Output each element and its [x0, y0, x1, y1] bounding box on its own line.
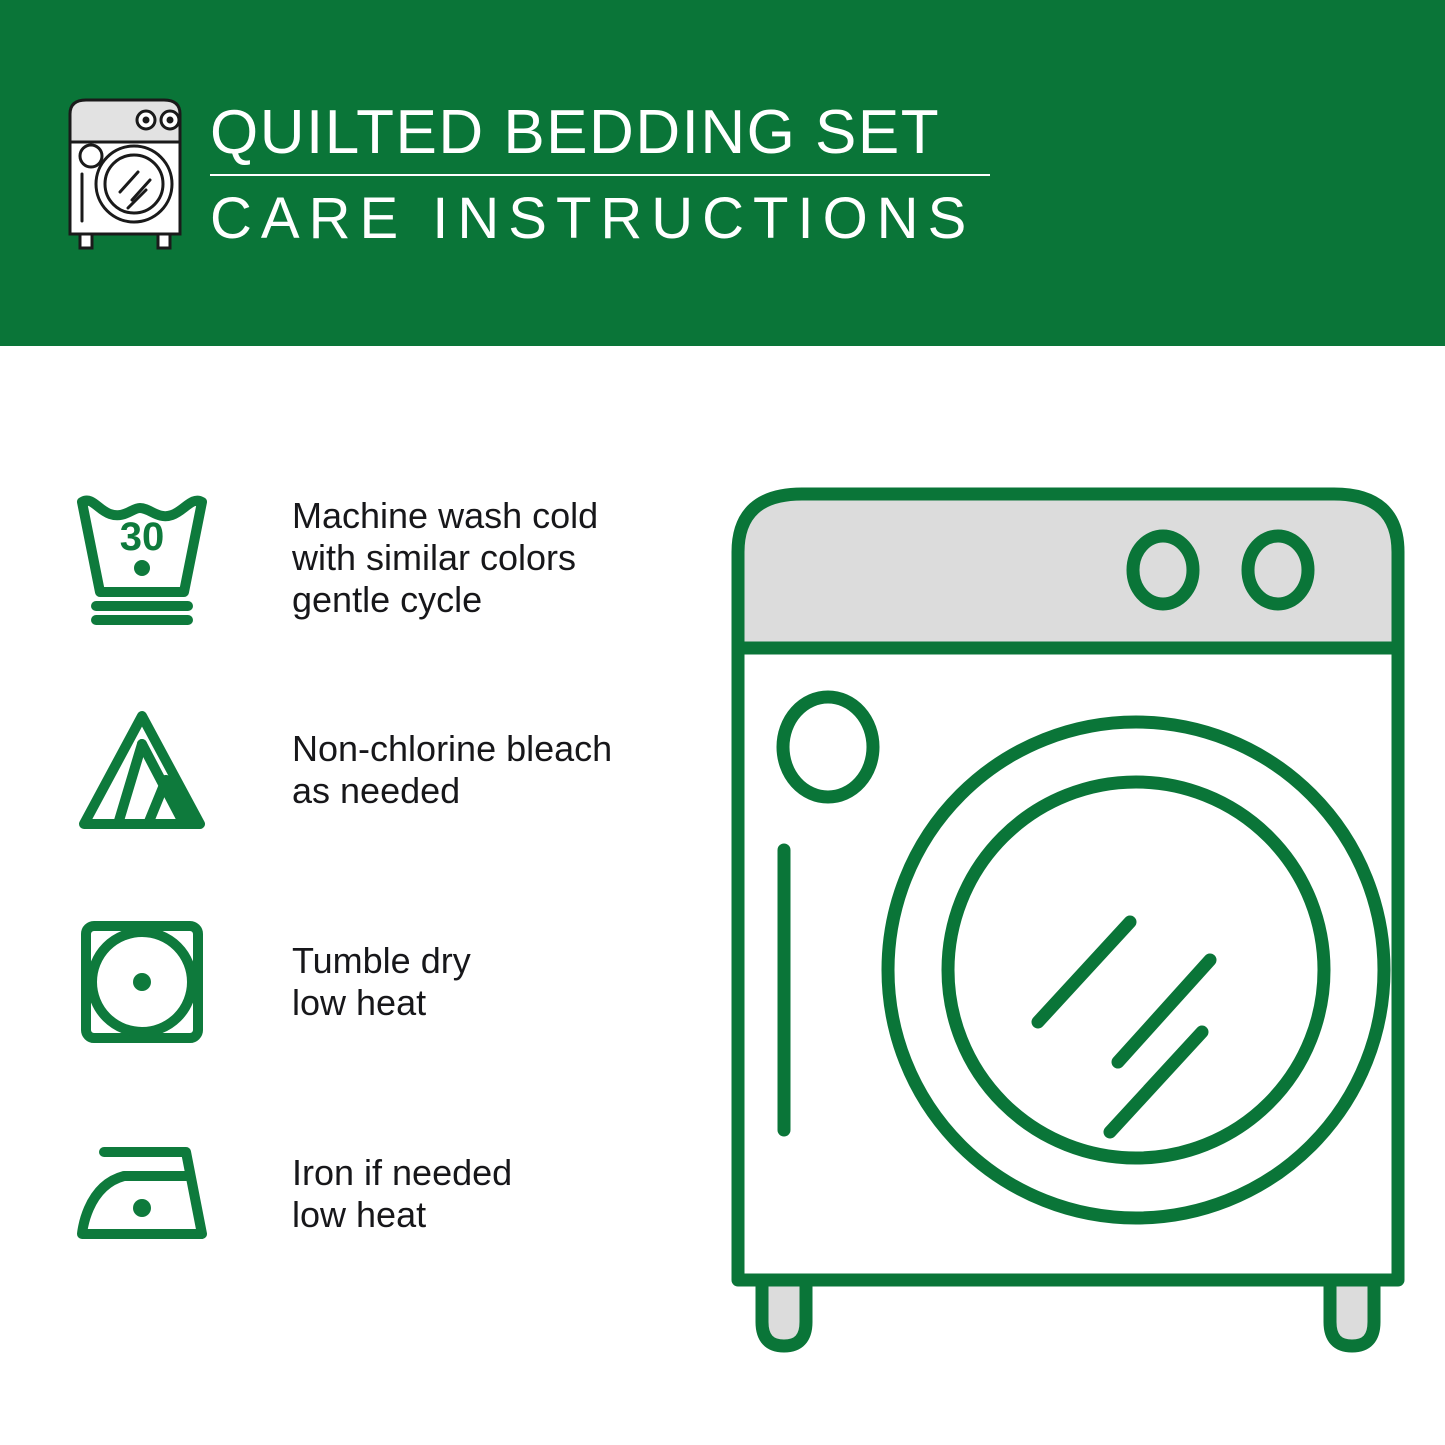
- instruction-line: Tumble dry: [292, 940, 471, 982]
- page-title: QUILTED BEDDING SET: [210, 100, 990, 166]
- instruction-text: Iron if needed low heat: [234, 1152, 512, 1236]
- bleach-triangle-striped-icon: [62, 690, 234, 850]
- header-banner: QUILTED BEDDING SET CARE INSTRUCTIONS: [0, 0, 1445, 346]
- instruction-line: low heat: [292, 1194, 512, 1236]
- tumble-dry-low-icon: [62, 902, 234, 1062]
- list-item: Tumble dry low heat: [62, 902, 682, 1062]
- front-load-washing-machine-illustration: [718, 470, 1418, 1360]
- instruction-line: low heat: [292, 982, 471, 1024]
- instruction-line: Machine wash cold: [292, 495, 598, 537]
- page-subtitle: CARE INSTRUCTIONS: [210, 188, 990, 250]
- list-item: Non-chlorine bleach as needed: [62, 690, 682, 850]
- header-text-block: QUILTED BEDDING SET CARE INSTRUCTIONS: [210, 96, 990, 250]
- instruction-line: Iron if needed: [292, 1152, 512, 1194]
- instruction-line: Non-chlorine bleach: [292, 728, 612, 770]
- wash-tub-30-icon: 30: [62, 478, 234, 638]
- instruction-text: Tumble dry low heat: [234, 940, 471, 1024]
- instruction-text: Non-chlorine bleach as needed: [234, 728, 612, 812]
- washing-machine-icon: [62, 96, 188, 251]
- wash-temperature-label: 30: [120, 515, 165, 559]
- header-content: QUILTED BEDDING SET CARE INSTRUCTIONS: [62, 96, 990, 251]
- instruction-text: Machine wash cold with similar colors ge…: [234, 495, 598, 621]
- list-item: 30 Machine wash cold with similar colors…: [62, 478, 682, 638]
- instruction-line: as needed: [292, 770, 612, 812]
- care-instructions-list: 30 Machine wash cold with similar colors…: [62, 478, 682, 1274]
- title-divider: [210, 174, 990, 176]
- list-item: Iron if needed low heat: [62, 1114, 682, 1274]
- iron-low-heat-icon: [62, 1114, 234, 1274]
- instruction-line: with similar colors: [292, 537, 598, 579]
- instruction-line: gentle cycle: [292, 579, 598, 621]
